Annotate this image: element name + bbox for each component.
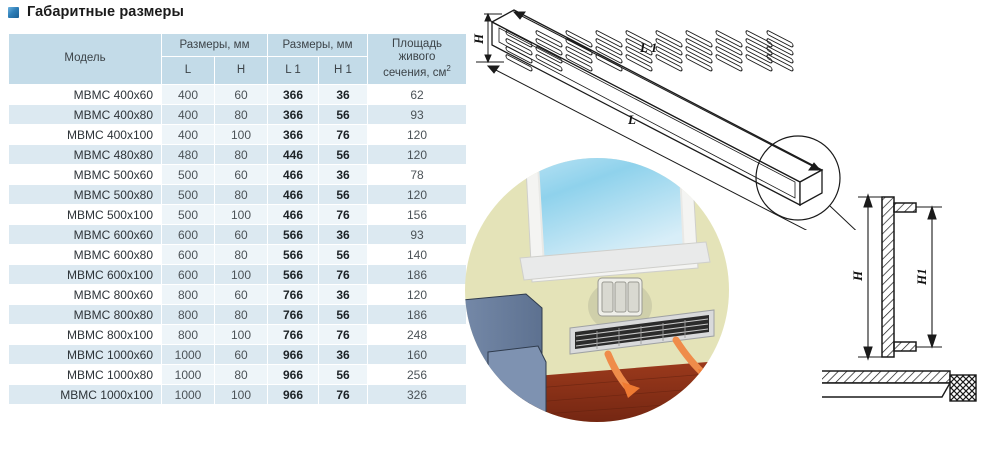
row-l: 800 [162, 285, 214, 304]
row-l1: 566 [268, 245, 318, 264]
row-area: 93 [368, 225, 466, 244]
header-sub-l1: L 1 [268, 57, 318, 84]
row-area: 256 [368, 365, 466, 384]
label-h-section: H [850, 270, 865, 282]
header-free-area-line1: Площадь живого [392, 38, 442, 63]
row-l1: 566 [268, 265, 318, 284]
header-sub-h1: H 1 [319, 57, 367, 84]
row-h1: 76 [319, 265, 367, 284]
row-h: 80 [215, 305, 267, 324]
row-model: МВМС 600x80 [9, 245, 161, 264]
row-h: 80 [215, 145, 267, 164]
row-model: МВМС 800x80 [9, 305, 161, 324]
row-l: 1000 [162, 365, 214, 384]
page-title: Габаритные размеры [8, 4, 184, 20]
row-l: 600 [162, 225, 214, 244]
row-area: 120 [368, 185, 466, 204]
table-row: МВМС 400x60400603663662 [9, 85, 466, 104]
row-h: 100 [215, 325, 267, 344]
row-area: 160 [368, 345, 466, 364]
sofa [462, 294, 546, 430]
row-l1: 966 [268, 385, 318, 404]
row-model: МВМС 400x100 [9, 125, 161, 144]
table-row: МВМС 600x10060010056676186 [9, 265, 466, 284]
specifications-table-container: Модель Размеры, мм Размеры, мм Площадь ж… [8, 33, 460, 405]
row-area: 248 [368, 325, 466, 344]
row-h: 100 [215, 205, 267, 224]
row-h1: 56 [319, 305, 367, 324]
bullet-square-icon [8, 7, 19, 18]
room-installation-illustration [462, 150, 732, 430]
window [520, 150, 710, 282]
row-model: МВМС 500x60 [9, 165, 161, 184]
row-area: 78 [368, 165, 466, 184]
row-h1: 76 [319, 205, 367, 224]
row-h1: 76 [319, 385, 367, 404]
row-model: МВМС 1000x100 [9, 385, 161, 404]
row-h1: 56 [319, 145, 367, 164]
table-row: МВМС 600x806008056656140 [9, 245, 466, 264]
page-title-text: Габаритные размеры [27, 4, 184, 20]
row-model: МВМС 480x80 [9, 145, 161, 164]
row-h1: 56 [319, 245, 367, 264]
label-l1: L 1 [639, 40, 657, 55]
row-h1: 36 [319, 225, 367, 244]
row-l: 600 [162, 265, 214, 284]
row-h: 60 [215, 285, 267, 304]
row-l1: 766 [268, 305, 318, 324]
row-h: 60 [215, 85, 267, 104]
header-model: Модель [9, 34, 161, 84]
row-l1: 366 [268, 125, 318, 144]
row-area: 62 [368, 85, 466, 104]
row-model: МВМС 800x60 [9, 285, 161, 304]
row-area: 326 [368, 385, 466, 404]
row-h1: 36 [319, 165, 367, 184]
header-free-area-superscript: 2 [446, 64, 450, 73]
row-l: 800 [162, 305, 214, 324]
table-row: МВМС 400x80400803665693 [9, 105, 466, 124]
row-h1: 56 [319, 365, 367, 384]
row-h: 100 [215, 125, 267, 144]
technical-illustrations: H L 1 L [462, 0, 1001, 464]
row-area: 120 [368, 145, 466, 164]
header-free-area: Площадь живого сечения, см2 [368, 34, 466, 84]
row-l: 1000 [162, 385, 214, 404]
row-l: 500 [162, 185, 214, 204]
row-h1: 56 [319, 105, 367, 124]
row-h1: 36 [319, 345, 367, 364]
row-h1: 36 [319, 85, 367, 104]
table-row: МВМС 500x10050010046676156 [9, 205, 466, 224]
row-l1: 466 [268, 165, 318, 184]
row-model: МВМС 500x80 [9, 185, 161, 204]
header-group-dimensions-1: Размеры, мм [162, 34, 267, 56]
row-model: МВМС 500x100 [9, 205, 161, 224]
row-h: 80 [215, 185, 267, 204]
table-row: МВМС 800x808008076656186 [9, 305, 466, 324]
row-l: 500 [162, 205, 214, 224]
row-model: МВМС 400x80 [9, 105, 161, 124]
grille-cross-sections: H H1 [822, 175, 1001, 405]
row-l1: 366 [268, 105, 318, 124]
row-area: 156 [368, 205, 466, 224]
row-model: МВМС 1000x80 [9, 365, 161, 384]
table-row: МВМС 400x10040010036676120 [9, 125, 466, 144]
row-area: 186 [368, 305, 466, 324]
row-model: МВМС 400x60 [9, 85, 161, 104]
row-h: 80 [215, 365, 267, 384]
row-model: МВМС 600x60 [9, 225, 161, 244]
section-h-h1: H H1 [850, 195, 942, 359]
row-l1: 466 [268, 205, 318, 224]
dimension-h-section [864, 195, 872, 359]
table-row: МВМС 800x10080010076676248 [9, 325, 466, 344]
row-area: 186 [368, 265, 466, 284]
row-h1: 56 [319, 185, 367, 204]
row-h1: 76 [319, 325, 367, 344]
table-row: МВМС 480x804808044656120 [9, 145, 466, 164]
row-h1: 36 [319, 285, 367, 304]
row-h: 100 [215, 265, 267, 284]
header-sub-h: H [215, 57, 267, 84]
label-l: L [627, 112, 636, 127]
label-h1-section: H1 [914, 268, 929, 286]
row-l1: 446 [268, 145, 318, 164]
header-free-area-line2: сечения, см [383, 67, 446, 79]
row-area: 120 [368, 285, 466, 304]
row-l: 800 [162, 325, 214, 344]
row-model: МВМС 600x100 [9, 265, 161, 284]
row-area: 120 [368, 125, 466, 144]
row-l: 480 [162, 145, 214, 164]
table-row: МВМС 1000x100100010096676326 [9, 385, 466, 404]
row-l: 500 [162, 165, 214, 184]
row-l: 400 [162, 105, 214, 124]
row-l: 400 [162, 125, 214, 144]
row-h: 60 [215, 345, 267, 364]
label-h: H [471, 33, 486, 45]
header-sub-l: L [162, 57, 214, 84]
row-h: 80 [215, 245, 267, 264]
row-l: 400 [162, 85, 214, 104]
row-h: 60 [215, 225, 267, 244]
table-body: МВМС 400x60400603663662МВМС 400x80400803… [9, 85, 466, 404]
table-row: МВМС 500x60500604663678 [9, 165, 466, 184]
row-l: 1000 [162, 345, 214, 364]
row-l1: 466 [268, 185, 318, 204]
table-row: МВМС 600x60600605663693 [9, 225, 466, 244]
specifications-table: Модель Размеры, мм Размеры, мм Площадь ж… [8, 33, 467, 405]
row-area: 140 [368, 245, 466, 264]
dimension-h1-section [928, 207, 936, 347]
row-h1: 76 [319, 125, 367, 144]
table-row: МВМС 1000x8010008096656256 [9, 365, 466, 384]
table-row: МВМС 1000x6010006096636160 [9, 345, 466, 364]
row-model: МВМС 1000x60 [9, 345, 161, 364]
row-l1: 566 [268, 225, 318, 244]
row-h: 100 [215, 385, 267, 404]
row-model: МВМС 800x100 [9, 325, 161, 344]
row-l1: 966 [268, 345, 318, 364]
row-l1: 366 [268, 85, 318, 104]
row-l1: 766 [268, 325, 318, 344]
scene-content [462, 150, 732, 430]
table-row: МВМС 800x608006076636120 [9, 285, 466, 304]
table-row: МВМС 500x805008046656120 [9, 185, 466, 204]
row-h: 80 [215, 105, 267, 124]
row-l1: 966 [268, 365, 318, 384]
row-l1: 766 [268, 285, 318, 304]
row-h: 60 [215, 165, 267, 184]
row-area: 93 [368, 105, 466, 124]
table-header: Модель Размеры, мм Размеры, мм Площадь ж… [9, 34, 466, 84]
header-group-dimensions-2: Размеры, мм [268, 34, 367, 56]
row-l: 600 [162, 245, 214, 264]
grille-profile-section [822, 371, 976, 401]
